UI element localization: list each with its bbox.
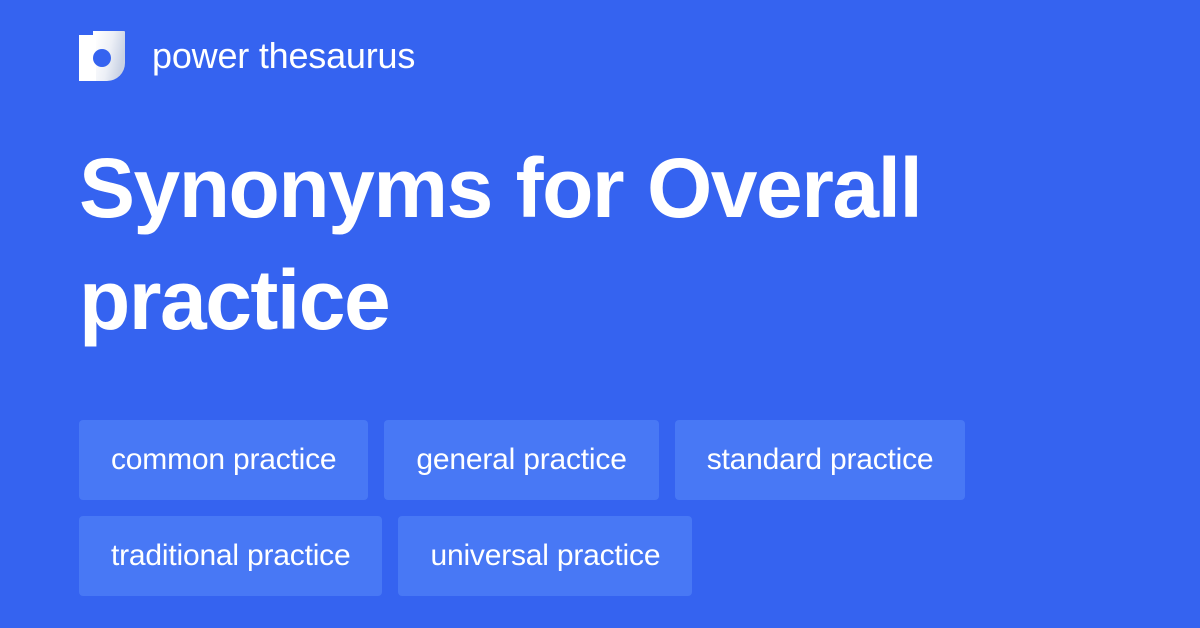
brand-name: power thesaurus	[152, 36, 415, 76]
synonym-chip[interactable]: traditional practice	[79, 516, 382, 596]
synonym-chip[interactable]: standard practice	[675, 420, 966, 500]
synonym-chip[interactable]: general practice	[384, 420, 658, 500]
brand-header[interactable]: power thesaurus	[79, 28, 415, 84]
share-card: power thesaurus Synonyms for Overall pra…	[0, 0, 1200, 628]
synonym-chip[interactable]: common practice	[79, 420, 368, 500]
synonym-chip[interactable]: universal practice	[398, 516, 692, 596]
synonym-chip-list: common practice general practice standar…	[79, 420, 1129, 596]
power-thesaurus-logo-icon	[79, 31, 125, 81]
page-title: Synonyms for Overall practice	[79, 132, 1119, 356]
